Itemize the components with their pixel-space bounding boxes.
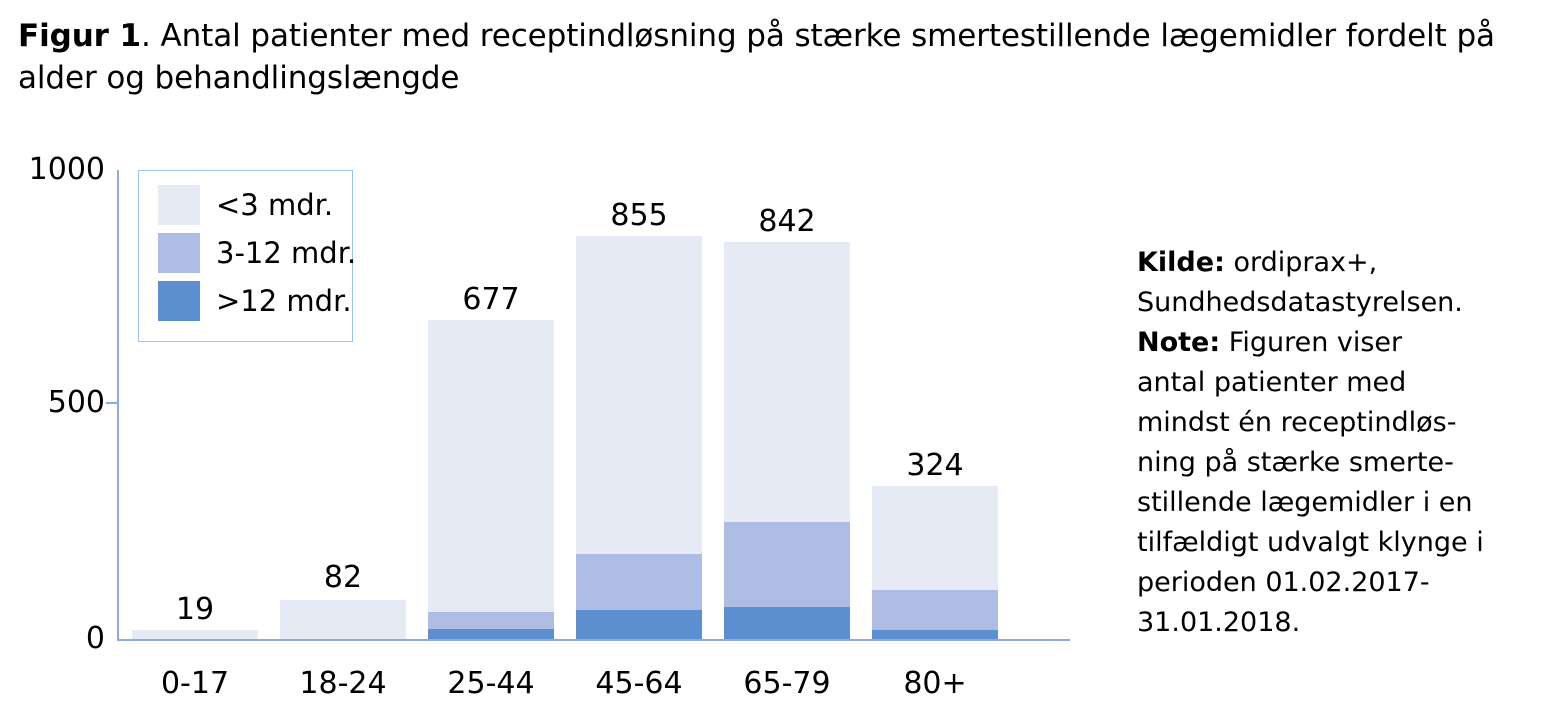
source-line-2: Sundhedsdatastyrelsen. [1137, 283, 1507, 323]
chart-legend[interactable]: <3 mdr. 3-12 mdr. >12 mdr. [138, 170, 353, 342]
bar-segment-lt3mdr [872, 486, 998, 590]
legend-item-3-12mdr[interactable]: 3-12 mdr. [158, 233, 356, 273]
note-line-8: 31.01.2018. [1137, 603, 1507, 643]
bar-segment-3-12mdr [576, 554, 702, 610]
y-axis-tick-500: 500 [13, 388, 105, 418]
bar-segment-gt12mdr [872, 630, 998, 639]
source-and-note: Kilde: ordiprax+, Sundhedsdatastyrelsen.… [1137, 243, 1507, 643]
note-line-6: tilfældigt udvalgt klynge i [1137, 523, 1507, 563]
bar-stack [872, 486, 998, 639]
legend-label-gt12mdr: >12 mdr. [216, 287, 352, 316]
bar-value-label: 324 [835, 451, 1035, 481]
bar-stack [132, 630, 258, 639]
figure-number-label: Figur 1 [18, 18, 141, 54]
bar-value-label: 842 [687, 207, 887, 237]
legend-item-lt3mdr[interactable]: <3 mdr. [158, 185, 333, 225]
bar-segment-lt3mdr [132, 630, 258, 639]
bar-value-label: 19 [95, 595, 295, 625]
legend-label-3-12mdr: 3-12 mdr. [216, 239, 356, 268]
bar-segment-3-12mdr [724, 522, 850, 607]
bar-stack [428, 320, 554, 639]
legend-label-lt3mdr: <3 mdr. [216, 191, 333, 220]
bar-stack [576, 236, 702, 639]
bar-group-65-79[interactable]: 842 [724, 170, 850, 639]
bar-segment-3-12mdr [872, 590, 998, 630]
note-label: Note: [1137, 327, 1220, 358]
note-line-7: perioden 01.02.2017- [1137, 563, 1507, 603]
y-axis-tick-0: 0 [13, 624, 105, 654]
source-line-1: Kilde: ordiprax+, [1137, 243, 1507, 283]
bar-chart: 1000 500 0 19 82 677 [0, 150, 1100, 691]
y-axis-tick-1000: 1000 [13, 155, 105, 185]
x-axis-line [117, 639, 1070, 641]
note-line-3: mindst én receptindløs- [1137, 403, 1507, 443]
bar-segment-gt12mdr [428, 629, 554, 639]
bar-segment-gt12mdr [724, 607, 850, 639]
bar-segment-gt12mdr [576, 610, 702, 639]
bar-segment-lt3mdr [724, 242, 850, 522]
bar-group-80plus[interactable]: 324 [872, 170, 998, 639]
source-text: ordiprax+, [1225, 247, 1377, 278]
figure-title-text: . Antal patienter med receptindløsning p… [18, 18, 1495, 96]
bar-group-25-44[interactable]: 677 [428, 170, 554, 639]
bar-value-label: 677 [391, 285, 591, 315]
legend-swatch-lt3mdr-icon [158, 185, 200, 225]
y-axis-labels: 1000 500 0 [0, 150, 105, 650]
bar-group-45-64[interactable]: 855 [576, 170, 702, 639]
bar-segment-lt3mdr [428, 320, 554, 612]
x-axis-label-80plus: 80+ [825, 667, 1045, 701]
note-line-1: Note: Figuren viser [1137, 323, 1507, 363]
legend-item-gt12mdr[interactable]: >12 mdr. [158, 281, 352, 321]
legend-swatch-gt12mdr-icon [158, 281, 200, 321]
note-text-1: Figuren viser [1220, 327, 1402, 358]
y-axis-tick-mark-500 [106, 402, 118, 404]
bar-segment-lt3mdr [576, 236, 702, 554]
bar-segment-lt3mdr [280, 600, 406, 639]
note-line-5: stillende lægemidler i en [1137, 483, 1507, 523]
source-label: Kilde: [1137, 247, 1225, 278]
note-line-2: antal patienter med [1137, 363, 1507, 403]
page-title: Figur 1. Antal patienter med receptindlø… [18, 16, 1498, 100]
bar-value-label: 82 [243, 563, 443, 593]
bar-stack [724, 242, 850, 639]
bar-segment-3-12mdr [428, 612, 554, 629]
bar-stack [280, 600, 406, 639]
legend-swatch-3-12mdr-icon [158, 233, 200, 273]
note-line-4: ning på stærke smerte- [1137, 443, 1507, 483]
